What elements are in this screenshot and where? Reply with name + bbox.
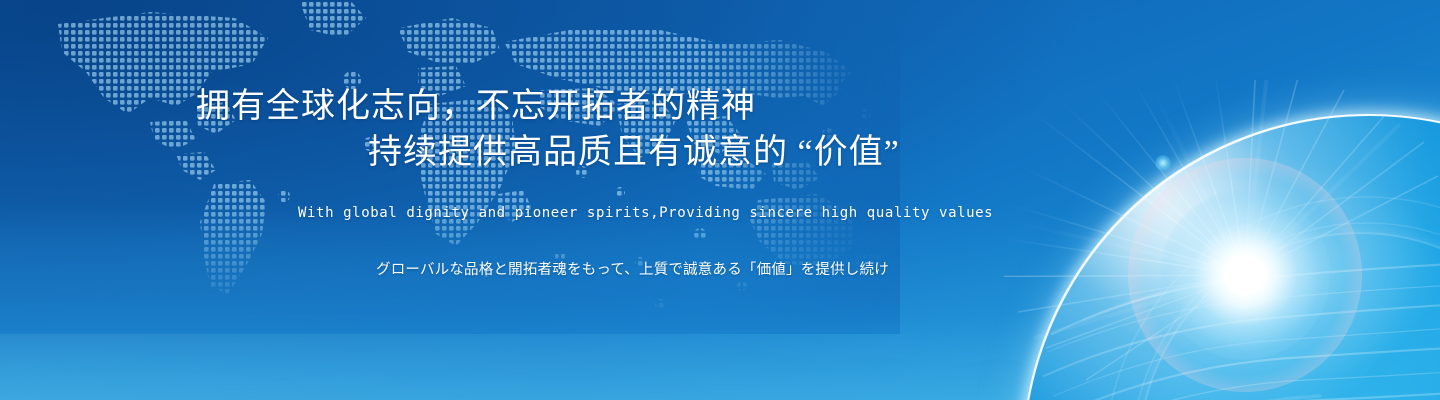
sun-flare-graphic [1160,190,1330,360]
headline-line-2: 持续提供高品质且有诚意的 “价值” [196,130,900,176]
lens-flare-dot-graphic [1155,155,1171,171]
banner-subtitle-japanese: グローバルな品格と開拓者魂をもって、上質で誠意ある「価値」を提供し続け [376,258,889,279]
headline-line-1: 拥有全球化志向，不忘开拓者的精神 [196,88,756,125]
banner-subtitle-english: With global dignity and pioneer spirits,… [298,205,993,221]
banner-headline: 拥有全球化志向，不忘开拓者的精神 持续提供高品质且有诚意的 “价值” [196,84,900,176]
hero-banner: 拥有全球化志向，不忘开拓者的精神 持续提供高品质且有诚意的 “价值” With … [0,0,1440,400]
